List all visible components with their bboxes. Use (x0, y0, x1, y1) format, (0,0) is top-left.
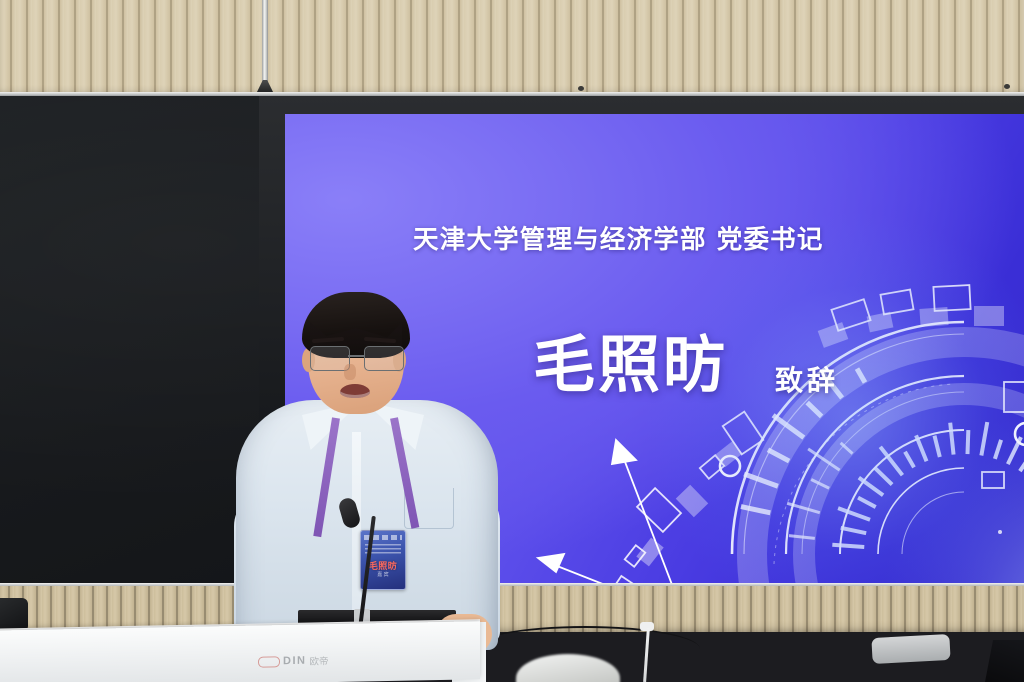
tech-circle-graphic (534, 264, 1024, 590)
wood-slat-wall-upper (0, 0, 1024, 96)
wall-fixture-dot (1004, 84, 1010, 89)
glasses-bridge (348, 355, 364, 357)
cable-bundle-wrap (871, 634, 950, 664)
wall-fixture-dot (578, 86, 584, 91)
screenshot-root: 天津大学管理与经济学部 党委书记 毛照昉 致辞 DIN 欧帝 (0, 0, 1024, 682)
slide-speaker-name: 毛照昉 (533, 314, 728, 404)
mouth (340, 384, 370, 398)
dark-drape (985, 640, 1024, 682)
odin-capsule-icon (258, 656, 280, 667)
podium-brand-chinese: 欧帝 (309, 653, 328, 667)
ceiling-post (262, 0, 268, 94)
podium (0, 621, 480, 682)
slide-title: 天津大学管理与经济学部 党委书记 (413, 219, 973, 256)
left-dark-object (0, 598, 28, 632)
lens-right (364, 346, 404, 371)
slide-action-label: 致辞 (775, 359, 839, 399)
speaker-figure: 毛照昉 嘉 宾 (236, 292, 498, 650)
podium-brand-latin: DIN (283, 655, 306, 667)
podium-brand-logo: DIN 欧帝 (258, 653, 328, 668)
eyeglasses-icon (306, 346, 408, 370)
nose (344, 364, 356, 380)
